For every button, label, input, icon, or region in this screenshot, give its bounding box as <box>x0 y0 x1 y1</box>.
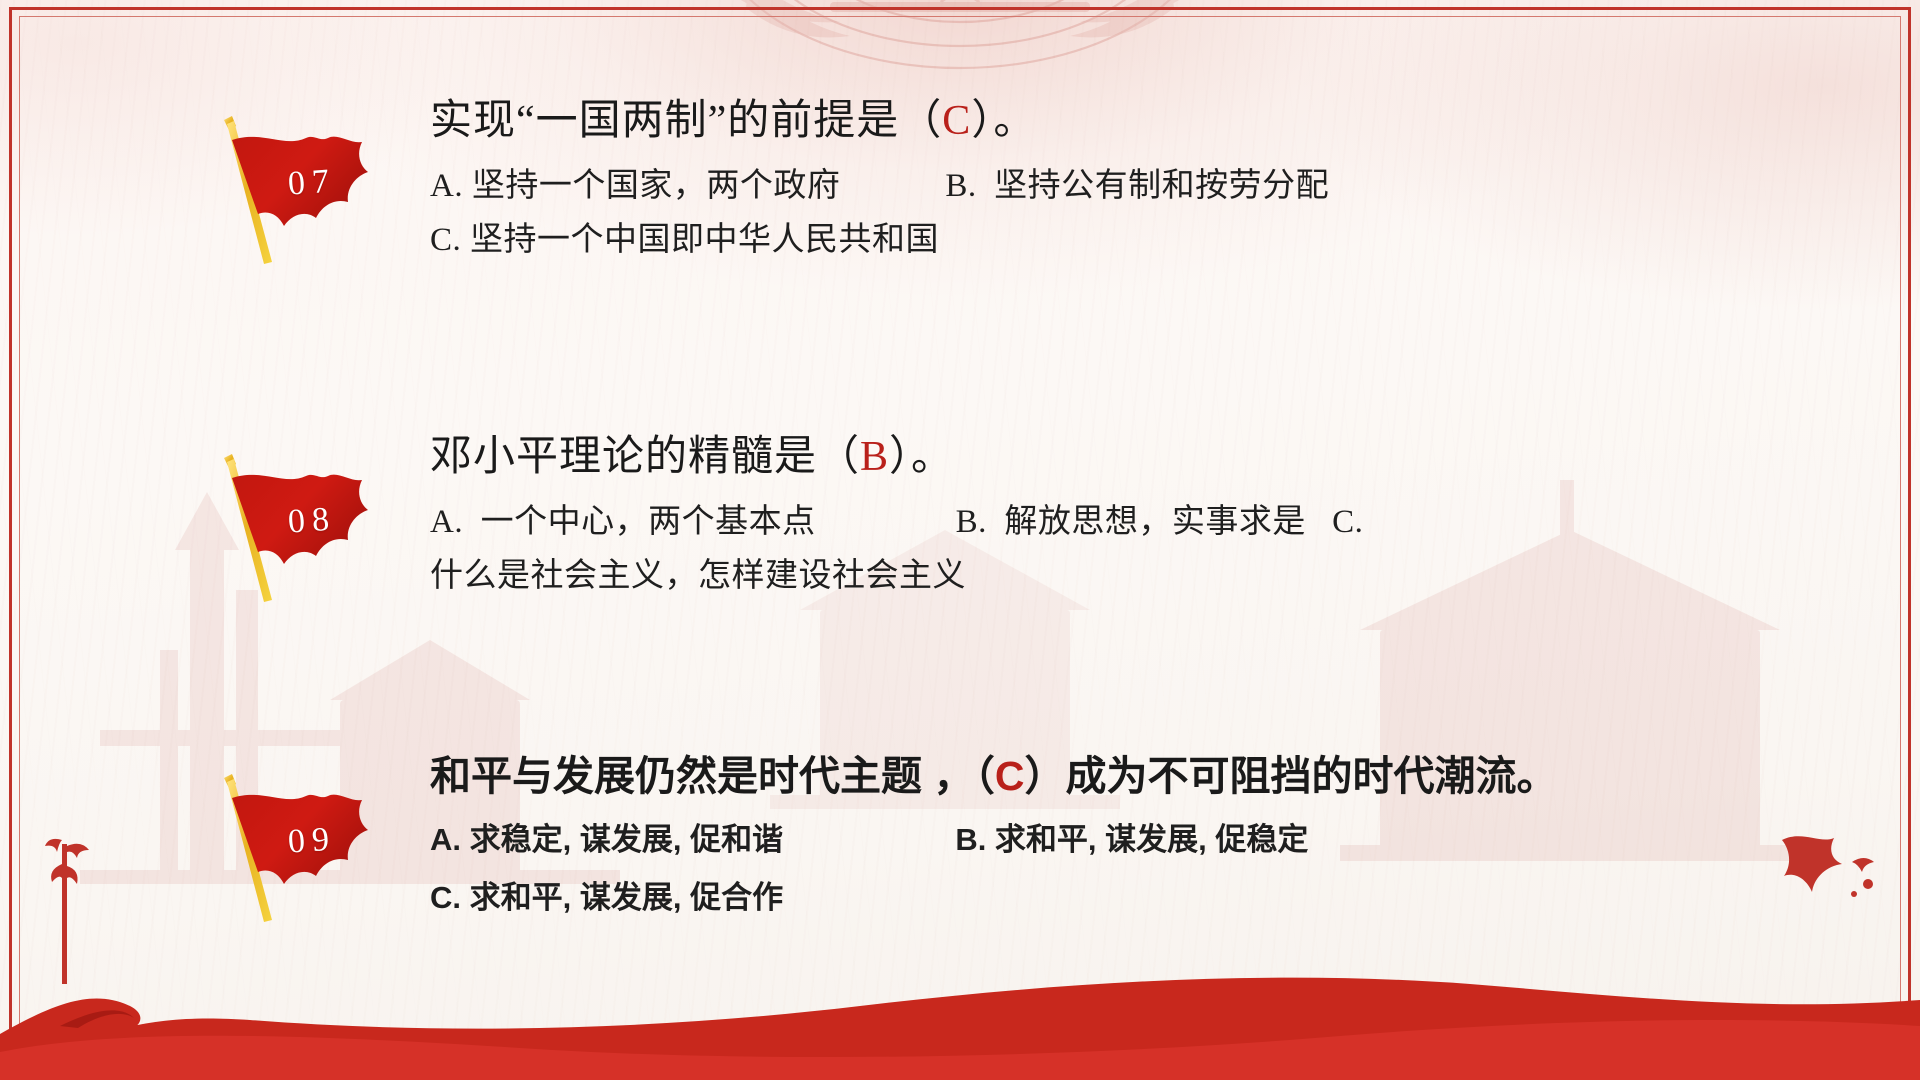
question-title-prefix: 实现“一国两制”的前提是（ <box>430 98 942 144</box>
red-waving-flag-icon: 09 <box>210 772 400 932</box>
slide-canvas: 07 实现“一国两制”的前提是（C）。 A. 坚持一个国家，两个政府 B. 坚持… <box>0 0 1920 1080</box>
question-title-prefix: 邓小平理论的精髓是（ <box>430 434 860 480</box>
question-options: A. 求稳定, 谋发展, 促和谐 B. 求和平, 谋发展, 促稳定 C. 求和平… <box>430 811 1860 926</box>
option-line: A. 一个中心，两个基本点 B. 解放思想，实事求是 C. <box>430 496 1860 549</box>
red-waving-flag-icon: 08 <box>210 452 400 612</box>
question-options: A. 坚持一个国家，两个政府 B. 坚持公有制和按劳分配 C. 坚持一个中国即中… <box>430 160 1860 267</box>
answer-letter: C <box>942 98 971 144</box>
question-title-suffix: ）。 <box>971 98 1036 144</box>
question-text-block: 邓小平理论的精髓是（B）。 A. 一个中心，两个基本点 B. 解放思想，实事求是… <box>430 432 1860 603</box>
red-waving-flag-icon: 07 <box>210 114 400 274</box>
option-line: A. 坚持一个国家，两个政府 B. 坚持公有制和按劳分配 <box>430 160 1860 213</box>
question-title-suffix: ）。 <box>889 434 954 480</box>
question-options: A. 一个中心，两个基本点 B. 解放思想，实事求是 C. 什么是社会主义，怎样… <box>430 496 1860 603</box>
question-title: 实现“一国两制”的前提是（C）。 <box>430 96 1860 146</box>
question-text-block: 和平与发展仍然是时代主题 ，（C）成为不可阻挡的时代潮流。 A. 求稳定, 谋发… <box>430 752 1860 926</box>
option-line: A. 求稳定, 谋发展, 促和谐 B. 求和平, 谋发展, 促稳定 <box>430 811 1860 868</box>
question-text-block: 实现“一国两制”的前提是（C）。 A. 坚持一个国家，两个政府 B. 坚持公有制… <box>430 96 1860 267</box>
option-line: 什么是社会主义，怎样建设社会主义 <box>430 550 1860 603</box>
question-title-suffix: ）成为不可阻挡的时代潮流。 <box>1025 753 1558 799</box>
question-title-prefix: 和平与发展仍然是时代主题 ，（ <box>430 753 995 799</box>
answer-letter: B <box>860 434 889 480</box>
question-title: 邓小平理论的精髓是（B）。 <box>430 432 1860 482</box>
option-line: C. 求和平, 谋发展, 促合作 <box>430 869 1860 926</box>
answer-letter: C <box>995 753 1025 799</box>
option-line: C. 坚持一个中国即中华人民共和国 <box>430 214 1860 267</box>
question-title: 和平与发展仍然是时代主题 ，（C）成为不可阻挡的时代潮流。 <box>430 752 1860 801</box>
question-list: 07 实现“一国两制”的前提是（C）。 A. 坚持一个国家，两个政府 B. 坚持… <box>0 0 1920 1080</box>
